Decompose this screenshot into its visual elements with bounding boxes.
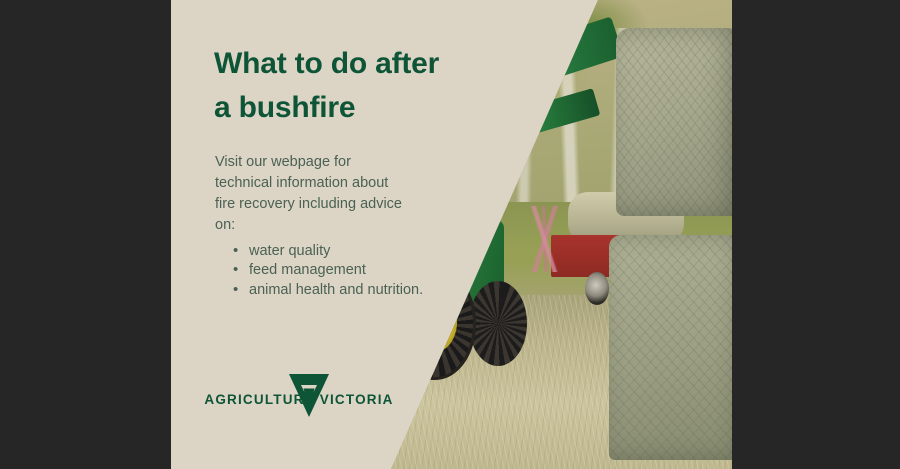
wrapped-hay-bale-upper bbox=[616, 28, 732, 216]
wrapped-hay-bale-lower bbox=[609, 235, 732, 460]
topics-list: water quality feed management animal hea… bbox=[229, 242, 499, 300]
page-title: What to do after a bushfire bbox=[214, 42, 514, 131]
list-item: feed management bbox=[249, 261, 499, 279]
bushfire-recovery-poster: What to do after a bushfire Visit our we… bbox=[171, 0, 732, 469]
pink-marker-flags bbox=[517, 206, 572, 272]
trailer-wheel bbox=[585, 272, 609, 305]
list-item: water quality bbox=[249, 242, 499, 260]
text-column: What to do after a bushfire Visit our we… bbox=[171, 0, 491, 469]
intro-paragraph: Visit our webpage for technical informat… bbox=[215, 152, 483, 236]
agriculture-victoria-logo: AGRICULTURE VICTORIA bbox=[204, 372, 394, 422]
list-item: animal health and nutrition. bbox=[249, 281, 499, 299]
screenshot-frame: What to do after a bushfire Visit our we… bbox=[0, 0, 900, 469]
victoria-triangle-icon bbox=[286, 372, 332, 419]
